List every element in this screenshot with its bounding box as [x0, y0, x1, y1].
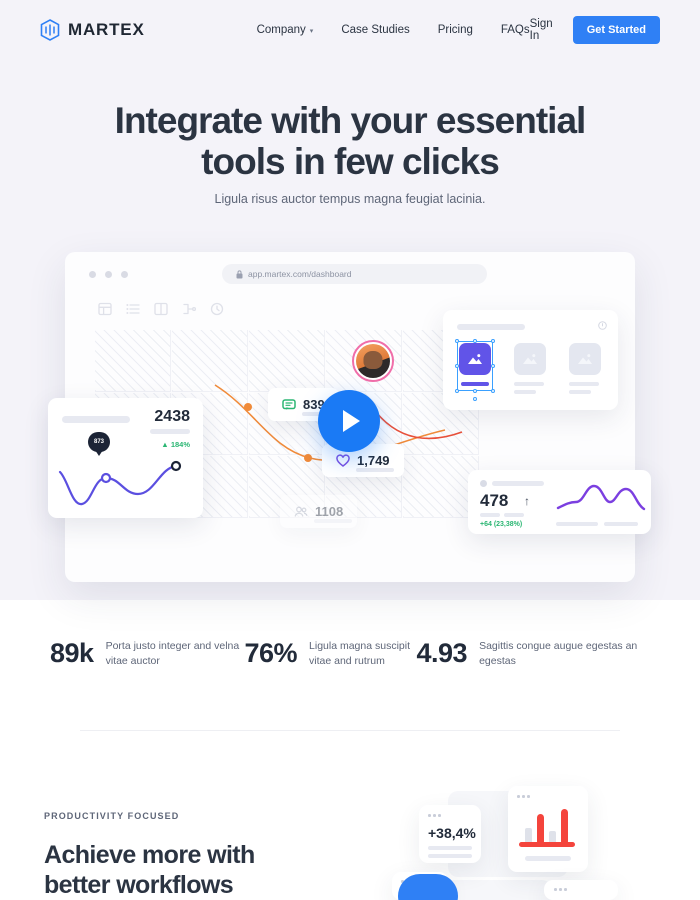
bar-chart-card	[508, 786, 588, 872]
hero-heading: Integrate with your essential tools in f…	[0, 100, 700, 183]
url-text: app.martex.com/dashboard	[248, 269, 351, 279]
cube-icon	[40, 19, 60, 41]
small-card-right	[544, 880, 618, 900]
nav-link-company-label: Company	[257, 24, 306, 36]
nav-link-faqs[interactable]: FAQs	[501, 24, 530, 36]
get-started-button[interactable]: Get Started	[573, 16, 660, 44]
section-heading-line1: Achieve more with	[44, 841, 255, 869]
landing-page: MARTEX Company ▾ Case Studies Pricing FA…	[0, 0, 700, 900]
stat-chip-value: 1108	[315, 504, 343, 519]
card-dot	[480, 480, 487, 487]
top-navigation: MARTEX Company ▾ Case Studies Pricing FA…	[0, 0, 700, 60]
metric-delta: ▲ 184%	[161, 440, 190, 449]
brand-logo[interactable]: MARTEX	[40, 19, 145, 41]
sub-placeholder-2	[504, 513, 524, 517]
stat-value: 89k	[50, 638, 94, 669]
bar-chart	[517, 806, 579, 850]
section-eyebrow: PRODUCTIVITY FOCUSED	[44, 811, 179, 821]
card-title-placeholder	[492, 481, 544, 486]
title-placeholder	[62, 416, 130, 423]
stat-item: 89k Porta justo integer and velna vitae …	[50, 638, 244, 669]
url-bar[interactable]: app.martex.com/dashboard	[222, 264, 487, 284]
table-grid-icon[interactable]	[98, 302, 112, 316]
section-heading: Achieve more with better workflows	[44, 840, 364, 900]
dots-menu-icon[interactable]	[428, 814, 441, 817]
flow-branch-icon[interactable]	[182, 302, 196, 316]
gallery-card	[443, 310, 618, 410]
play-video-button[interactable]	[318, 390, 380, 452]
stat-item: 4.93 Sagittis congue augue egestas an eg…	[417, 638, 661, 669]
stat-desc: Sagittis congue augue egestas an egestas	[479, 639, 660, 667]
comment-icon	[282, 398, 296, 412]
sub-placeholder-1	[480, 513, 500, 517]
metric-card-2438: 2438 ▲ 184%	[48, 398, 203, 518]
chip-placeholder	[356, 468, 394, 472]
image-icon	[577, 352, 593, 366]
hero-subheading: Ligula risus auctor tempus magna feugiat…	[0, 192, 700, 206]
image-icon	[522, 352, 538, 366]
heart-icon	[336, 454, 350, 468]
browser-chrome: app.martex.com/dashboard	[65, 252, 635, 298]
lock-icon	[236, 270, 243, 279]
stat-desc: Ligula magna suscipit vitae and rutrum	[309, 639, 416, 667]
nav-links: Company ▾ Case Studies Pricing FAQs	[257, 24, 530, 36]
triangle-up-icon: ▲	[161, 440, 168, 449]
gallery-title-placeholder	[457, 324, 525, 330]
arrow-up-icon: ↑	[524, 494, 530, 508]
gallery-thumb-2[interactable]	[514, 343, 546, 375]
chart-tooltip-pin: 873	[88, 432, 110, 458]
avatar	[352, 340, 394, 382]
nav-link-pricing[interactable]: Pricing	[438, 24, 473, 36]
line-chart	[556, 480, 646, 520]
brand-name: MARTEX	[68, 20, 145, 40]
stat-value: 4.93	[417, 638, 468, 669]
tooltip-tail	[95, 450, 103, 456]
stat-desc: Porta justo integer and velna vitae auct…	[106, 639, 245, 667]
dashboard-toolbar	[98, 302, 224, 316]
users-icon	[294, 505, 308, 519]
info-icon[interactable]	[598, 321, 607, 330]
section-heading-line2: better workflows	[44, 871, 233, 899]
nav-link-company[interactable]: Company ▾	[257, 24, 314, 36]
sign-in-link[interactable]: Sign In	[530, 18, 555, 42]
percent-card: +38,4%	[419, 805, 481, 863]
stat-item: 76% Ligula magna suscipit vitae and rutr…	[244, 638, 416, 669]
stat-chip-value: 1,749	[357, 453, 390, 468]
gallery-thumb-3[interactable]	[569, 343, 601, 375]
window-control-dots	[89, 271, 128, 278]
metric-value: 478	[480, 491, 508, 511]
selection-handles[interactable]	[457, 341, 493, 391]
section-divider	[80, 730, 620, 731]
avatar-image	[356, 344, 390, 378]
chart-tooltip-value: 873	[88, 432, 110, 452]
metric-gain: +64 (23,38%)	[480, 521, 522, 528]
hero-heading-line1: Integrate with your essential	[115, 100, 586, 141]
columns-icon[interactable]	[154, 302, 168, 316]
dots-menu-icon[interactable]	[554, 888, 567, 891]
percent-value: +38,4%	[428, 825, 476, 841]
dots-menu-icon[interactable]	[517, 795, 530, 798]
stat-chip-likes: 1,749	[322, 444, 404, 477]
hero-heading-line2: tools in few clicks	[201, 141, 499, 182]
chip-placeholder	[314, 519, 352, 523]
metric-card-478: 478 ↑ +64 (23,38%)	[468, 470, 651, 534]
blue-accent-shape	[398, 874, 458, 900]
stat-value: 76%	[244, 638, 297, 669]
subtitle-placeholder	[150, 429, 190, 434]
chevron-down-icon: ▾	[310, 27, 314, 35]
clock-icon[interactable]	[210, 302, 224, 316]
line-chart	[56, 452, 196, 510]
list-icon[interactable]	[126, 302, 140, 316]
nav-link-case-studies[interactable]: Case Studies	[341, 24, 409, 36]
stats-row: 89k Porta justo integer and velna vitae …	[50, 638, 660, 669]
metric-delta-value: 184%	[171, 440, 190, 449]
nav-actions: Sign In Get Started	[530, 16, 660, 44]
metric-value: 2438	[154, 408, 190, 426]
stat-chip-users: 1108	[280, 495, 357, 528]
